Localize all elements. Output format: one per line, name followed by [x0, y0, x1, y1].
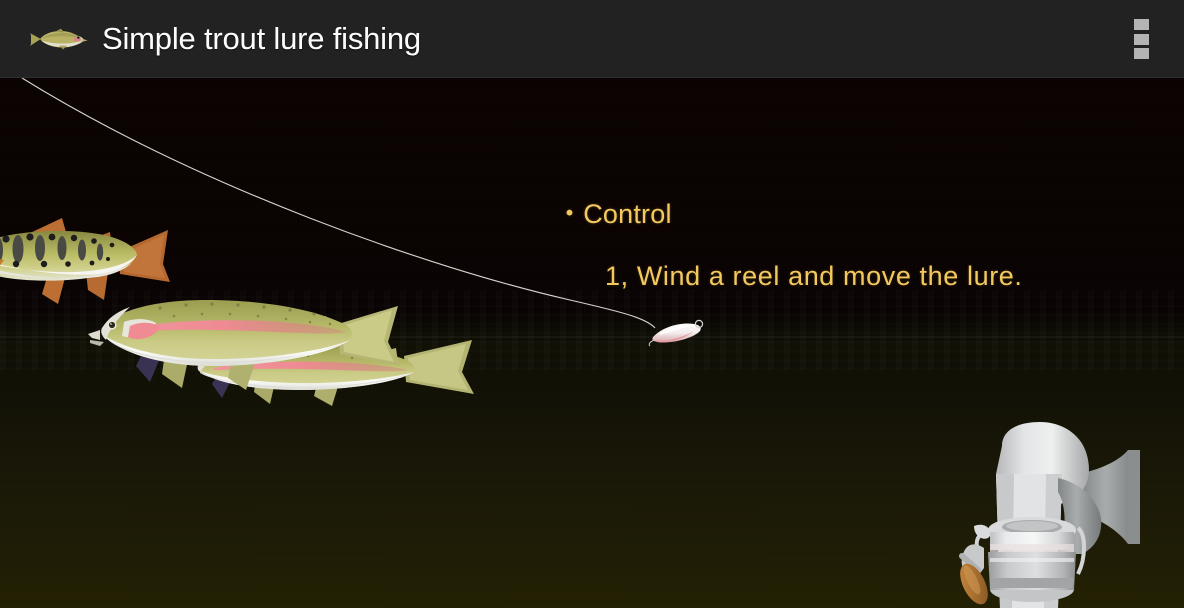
game-scene[interactable]: ・Control 1, Wind a reel and move the lur…: [0, 78, 1184, 608]
bail-roller: [974, 525, 990, 539]
spinning-reel[interactable]: [0, 78, 1184, 608]
reel-gear-plate: [0, 78, 1184, 608]
fishing-line: [0, 78, 1184, 608]
reel-arm: [1056, 478, 1101, 554]
rainbow-trout-front: [88, 300, 400, 390]
fishing-lure[interactable]: [0, 78, 1184, 608]
reel-spool: [988, 517, 1076, 602]
window-title: Simple trout lure fishing: [102, 21, 421, 57]
rainbow-trout-back: [198, 334, 474, 406]
trout-icon: [28, 22, 90, 56]
reel-bail: [977, 528, 1084, 574]
overflow-menu-icon[interactable]: [1134, 19, 1150, 59]
control-heading: ・Control: [556, 192, 672, 231]
water-texture: [0, 78, 1184, 608]
water-surface-line: [0, 336, 1184, 338]
reel-body: [996, 422, 1089, 608]
instruction-line-1: 1, Wind a reel and move the lure.: [605, 261, 1023, 292]
fish-layer: [0, 78, 1184, 608]
water-surface-bands: [0, 290, 1184, 370]
overflow-dot-2: [1134, 34, 1149, 45]
titlebar: Simple trout lure fishing: [0, 0, 1184, 78]
reel-handle: [954, 544, 993, 608]
overflow-dot-1: [1134, 19, 1149, 30]
spotted-trout: [0, 218, 170, 304]
game-window: Simple trout lure fishing: [0, 0, 1184, 608]
overflow-dot-3: [1134, 48, 1149, 59]
reel-stem: [1078, 450, 1140, 544]
